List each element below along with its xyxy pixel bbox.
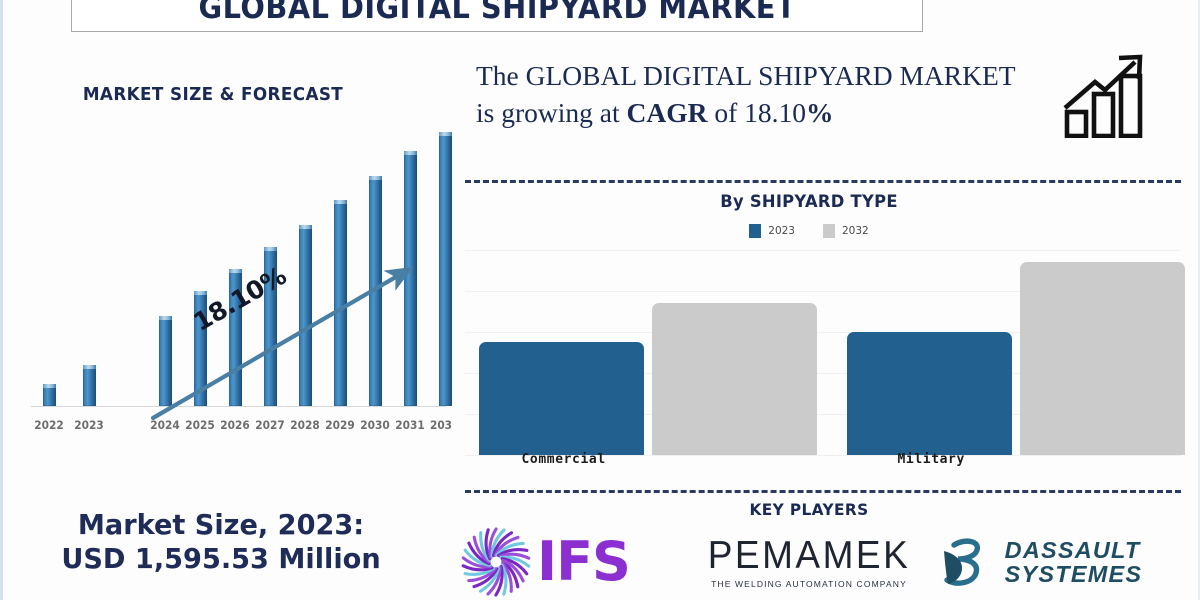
market-size-value: Market Size, 2023: USD 1,595.53 Million — [17, 508, 424, 576]
forecast-bar — [334, 200, 347, 406]
forecast-bar — [369, 176, 382, 406]
forecast-bar — [83, 365, 96, 406]
forecast-year-labels: 2022202320242025202620272028202920302031… — [23, 410, 448, 432]
forecast-bar — [299, 225, 312, 406]
ifs-spiral-icon — [459, 526, 533, 598]
market-size-forecast-chart: 2022202320242025202620272028202920302031… — [23, 118, 448, 438]
headline-part-2: of 18.10 — [707, 97, 806, 128]
type-bar — [1020, 262, 1185, 455]
legend-item: 2023 — [749, 224, 795, 238]
logo-dassault-systemes: DASSAULT SYSTEMES — [935, 532, 1141, 594]
shipyard-type-chart — [465, 250, 1181, 455]
legend-swatch — [823, 224, 835, 238]
forecast-year-label: 2029 — [325, 418, 354, 432]
cagr-headline: The GLOBAL DIGITAL SHIPYARD MARKET is gr… — [476, 58, 1016, 131]
forecast-year-label: 2028 — [290, 418, 319, 432]
shipyard-type-title: By SHIPYARD TYPE — [465, 192, 1152, 212]
type-bar — [652, 303, 817, 455]
logo-ifs: IFS — [459, 526, 630, 598]
pemamek-tagline: THE WELDING AUTOMATION COMPANY — [690, 579, 928, 589]
forecast-year-label: 203 — [430, 418, 452, 432]
forecast-year-label: 2030 — [360, 418, 389, 432]
dassault-line-2: SYSTEMES — [1005, 563, 1143, 587]
forecast-bar — [159, 316, 172, 407]
forecast-year-label: 2027 — [255, 418, 284, 432]
shipyard-type-bars — [465, 250, 1181, 455]
divider-bottom — [465, 490, 1181, 493]
shipyard-type-category-labels: CommercialMilitary — [465, 452, 1181, 474]
forecast-year-label: 2025 — [185, 418, 214, 432]
forecast-bar — [404, 151, 417, 406]
dassault-wordmark: DASSAULT SYSTEMES — [1005, 539, 1143, 587]
type-bar — [847, 332, 1012, 455]
shipyard-type-legend: 20232032 — [451, 224, 1167, 238]
headline-bold-cagr: CAGR — [626, 97, 707, 128]
growth-chart-icon — [1061, 52, 1161, 138]
forecast-bars — [23, 118, 448, 406]
forecast-year-label: 2023 — [74, 418, 103, 432]
forecast-bar — [43, 384, 56, 406]
key-players-logos: IFS PEMAMEK THE WELDING AUTOMATION COMPA… — [451, 524, 1181, 600]
pemamek-wordmark: PEMAMEK — [689, 535, 929, 574]
market-size-forecast-heading: MARKET SIZE & FORECAST — [11, 85, 414, 105]
ifs-wordmark: IFS — [537, 535, 630, 589]
forecast-year-label: 2026 — [220, 418, 249, 432]
forecast-year-label: 2022 — [34, 418, 63, 432]
type-category-label: Military — [898, 452, 965, 467]
right-panel: The GLOBAL DIGITAL SHIPYARD MARKET is gr… — [451, 0, 1200, 600]
market-size-forecast-panel: MARKET SIZE & FORECAST 20222023202420252… — [3, 40, 448, 600]
dassault-line-1: DASSAULT — [1005, 539, 1143, 563]
headline-bold-percent: % — [806, 97, 834, 128]
forecast-year-label: 2024 — [150, 418, 179, 432]
dassault-3ds-icon — [935, 532, 997, 594]
legend-label: 2032 — [842, 225, 869, 237]
type-category-label: Commercial — [522, 452, 606, 467]
key-players-title: KEY PLAYERS — [465, 500, 1152, 519]
logo-pemamek: PEMAMEK THE WELDING AUTOMATION COMPANY — [689, 536, 929, 589]
market-size-line-2: USD 1,595.53 Million — [61, 542, 380, 575]
divider-top — [465, 180, 1181, 183]
legend-swatch — [749, 224, 761, 238]
legend-label: 2023 — [768, 225, 795, 237]
infographic-page: GLOBAL DIGITAL SHIPYARD MARKET MARKET SI… — [0, 0, 1200, 600]
forecast-bar — [439, 132, 452, 406]
market-size-line-1: Market Size, 2023: — [78, 508, 364, 541]
forecast-axis-line — [31, 406, 446, 407]
forecast-year-label: 2031 — [395, 418, 424, 432]
type-bar — [479, 342, 644, 455]
legend-item: 2032 — [823, 224, 869, 238]
